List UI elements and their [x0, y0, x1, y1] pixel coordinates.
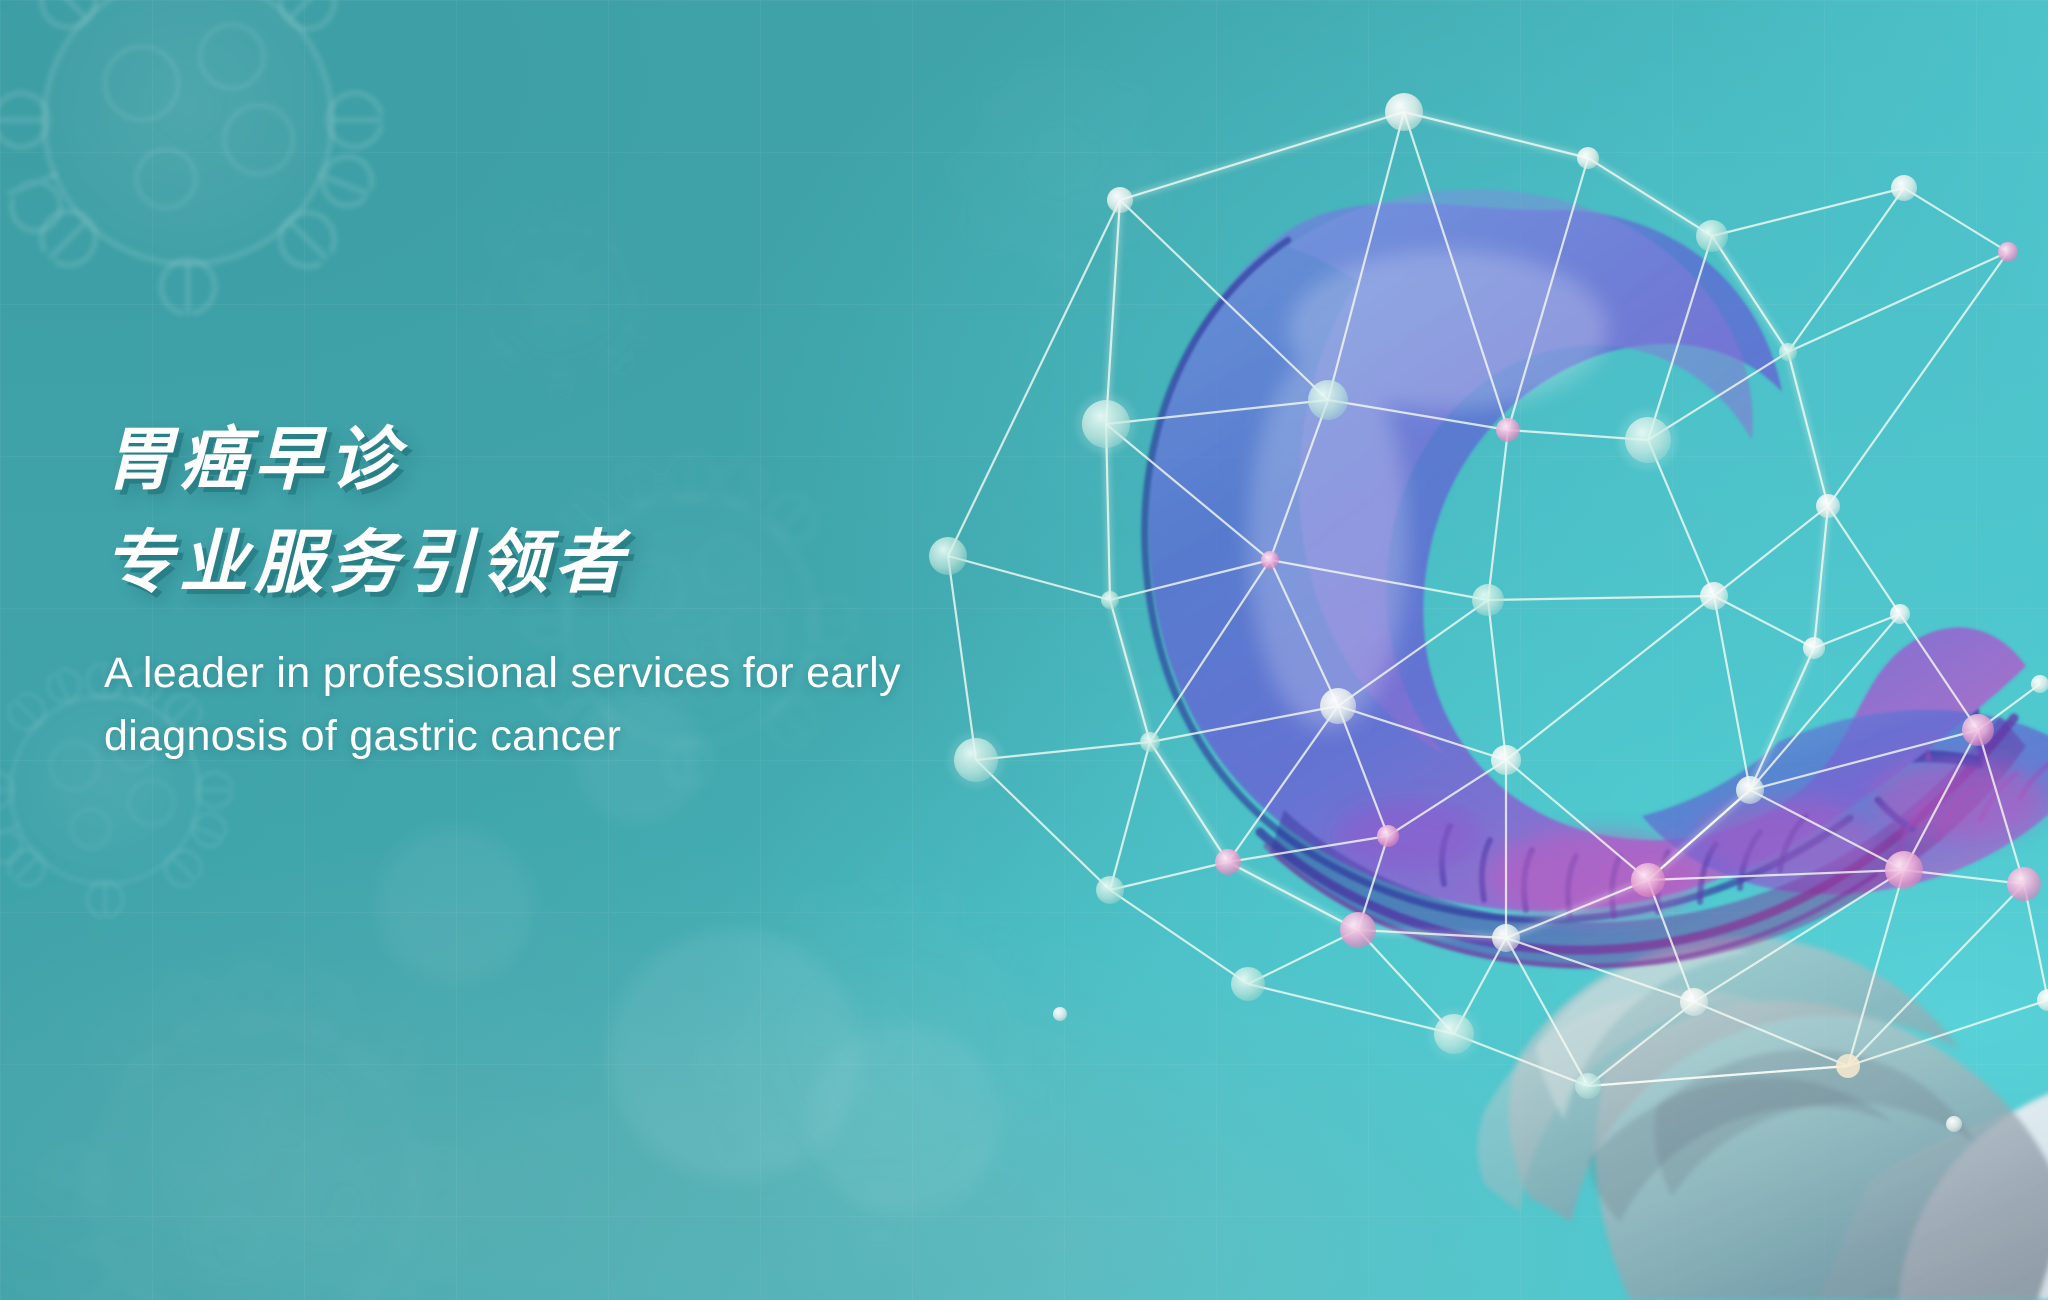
subtitle-line-1: A leader in professional services for ea… [104, 642, 1104, 705]
headline-line-2: 专业服务引领者 [104, 511, 1164, 614]
headline-line-1: 胃癌早诊 [104, 408, 1164, 511]
banner-copy: 胃癌早诊 专业服务引领者 A leader in professional se… [104, 408, 1164, 768]
subtitle-line-2: diagnosis of gastric cancer [104, 705, 1104, 768]
subtitle: A leader in professional services for ea… [104, 642, 1104, 768]
banner-canvas: 胃癌早诊 专业服务引领者 A leader in professional se… [0, 0, 2048, 1300]
